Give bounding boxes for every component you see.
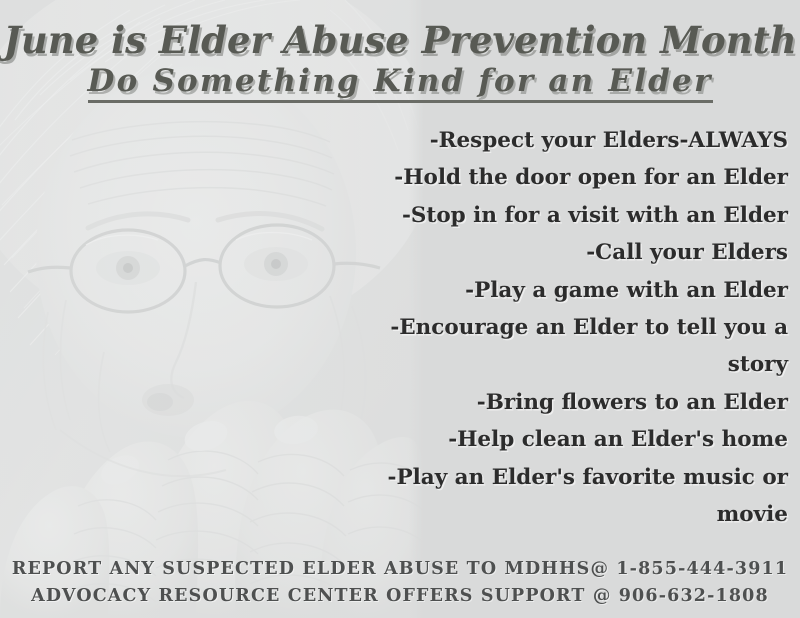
- page-subtitle: Do Something Kind for an Elder: [88, 63, 713, 103]
- kindness-suggestions-list: -Respect your Elders-ALWAYS -Hold the do…: [358, 122, 788, 533]
- list-item: -Stop in for a visit with an Elder: [358, 197, 788, 234]
- list-item: -Hold the door open for an Elder: [358, 159, 788, 196]
- list-item: -Respect your Elders-ALWAYS: [358, 122, 788, 159]
- poster-canvas: June is Elder Abuse Prevention Month Do …: [0, 0, 800, 618]
- list-item: -Call your Elders: [358, 234, 788, 271]
- footer-report-line: REPORT ANY SUSPECTED ELDER ABUSE TO MDHH…: [0, 556, 800, 583]
- title-block: June is Elder Abuse Prevention Month Do …: [0, 0, 800, 103]
- contact-footer: REPORT ANY SUSPECTED ELDER ABUSE TO MDHH…: [0, 556, 800, 610]
- list-item: -Help clean an Elder's home: [358, 421, 788, 458]
- list-item: -Play an Elder's favorite music or movie: [358, 459, 788, 534]
- page-title: June is Elder Abuse Prevention Month: [0, 20, 800, 60]
- list-item: -Bring flowers to an Elder: [358, 384, 788, 421]
- list-item: -Encourage an Elder to tell you a story: [358, 309, 788, 384]
- footer-support-line: ADVOCACY RESOURCE CENTER OFFERS SUPPORT …: [0, 583, 800, 610]
- list-item: -Play a game with an Elder: [358, 272, 788, 309]
